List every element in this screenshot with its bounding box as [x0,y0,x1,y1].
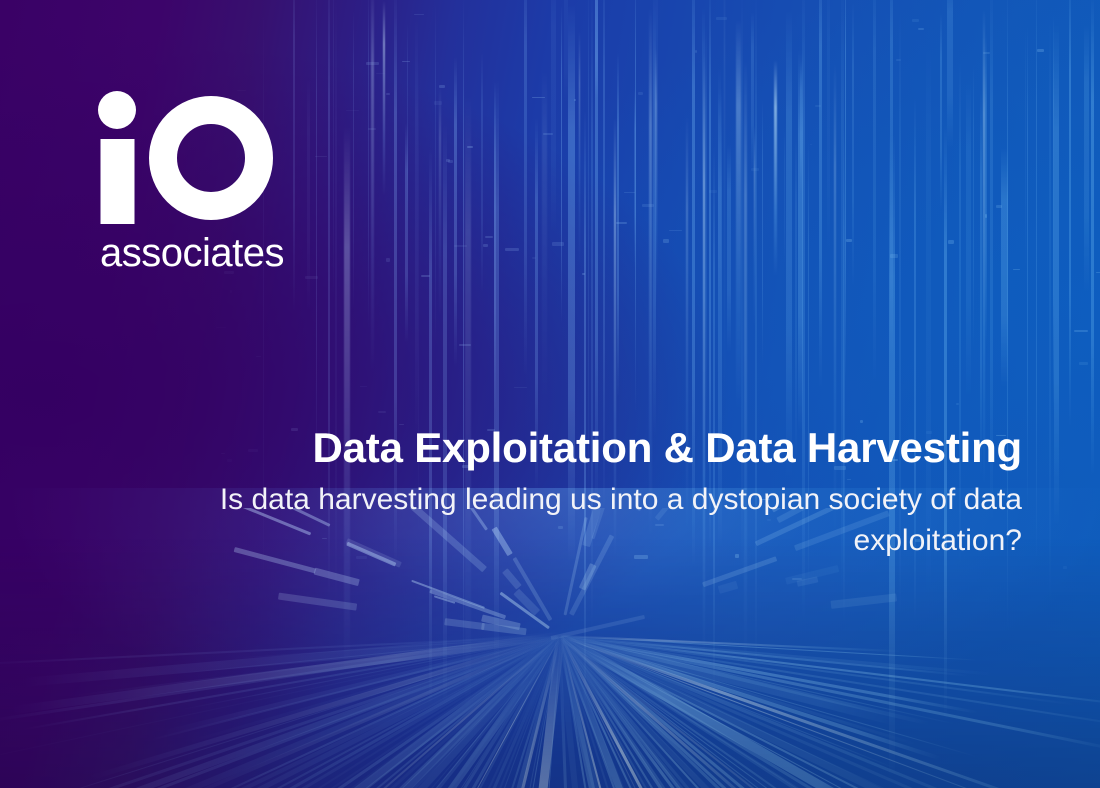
data-streak [551,0,556,233]
data-blip [890,254,898,257]
data-streak [368,0,369,328]
logo-letter-i-dot-icon [98,91,136,129]
data-streak [435,3,436,343]
data-blip [582,273,585,275]
page-title: Data Exploitation & Data Harvesting [120,424,1022,472]
floor-dash [718,581,738,594]
floor-dash [831,594,897,609]
data-blip [918,28,924,30]
data-blip [669,230,682,231]
data-streak [1036,0,1038,562]
logo-mark-icon: associates [96,86,296,276]
data-streak [1053,16,1054,413]
data-streak [727,145,732,352]
data-streak [940,14,942,210]
data-blip [846,239,852,242]
data-blip [414,14,424,16]
data-streak [617,53,619,397]
logo-tagline: associates [100,231,284,275]
data-streak [819,0,822,388]
data-blip [624,192,635,193]
data-streak [873,0,876,383]
data-streak [561,6,562,323]
data-streak [439,87,441,319]
data-blip [695,50,697,53]
page-subtitle: Is data harvesting leading us into a dys… [120,480,1022,562]
data-streak [947,0,953,147]
data-streak [985,34,988,347]
floor-dash [277,593,356,611]
data-streak [524,0,527,376]
data-streak [705,24,707,424]
floor-dash [502,568,521,589]
data-streak [656,0,658,254]
data-streak [1027,26,1029,514]
data-blip [810,144,812,145]
data-blip [1096,272,1100,273]
data-streak [973,64,974,348]
data-streak [736,20,741,410]
data-streak [724,0,725,398]
data-blip [1013,269,1021,270]
data-blip [467,146,473,149]
data-blip [948,240,954,244]
data-streak [371,0,374,371]
data-streak [1091,0,1094,475]
data-blip [1037,49,1044,52]
data-streak [22,0,24,451]
data-streak [1069,0,1070,427]
io-associates-logo: associates [96,86,296,276]
data-streak [481,52,482,294]
data-blip [360,386,368,387]
data-blip [552,242,565,246]
data-blip [386,93,390,95]
data-streak [786,11,791,476]
data-blip [716,17,727,21]
data-blip [543,133,553,136]
data-blip [860,420,864,423]
data-blip [638,92,644,95]
data-streak [1084,25,1089,292]
data-streak [754,126,755,326]
data-streak [353,11,354,308]
data-streak [79,10,82,578]
slide-canvas: associates Data Exploitation & Data Harv… [0,0,1100,788]
data-blip [368,128,376,130]
data-blip [315,156,327,158]
data-blip [574,99,577,101]
data-blip [386,258,391,262]
data-blip [1079,362,1088,365]
data-blip [616,222,628,224]
data-streak [579,32,580,264]
data-blip [216,327,226,328]
logo-letter-o-ring-icon [163,110,259,206]
data-blip [663,239,669,243]
data-blip [305,276,318,279]
data-streak [1054,25,1059,525]
data-blip [912,19,919,22]
data-streak [966,82,970,396]
data-streak [795,135,797,458]
data-blip [642,204,654,207]
data-blip [505,248,519,251]
floor-dash [313,568,359,586]
data-blip [446,159,450,162]
data-streak [827,0,830,255]
data-blip [896,59,901,61]
data-blip [1074,330,1088,332]
data-streak [454,57,457,366]
data-blip [709,190,717,194]
data-blip [366,62,380,65]
logo-letter-i-stem-icon [101,139,135,224]
data-streak [542,71,547,405]
data-blip [483,244,489,247]
data-blip [434,101,442,105]
data-streak [415,20,418,435]
data-blip [421,275,430,277]
data-streak [852,3,854,287]
data-blip [459,344,471,345]
data-blip [256,356,261,357]
data-streak [634,89,637,268]
data-streak [980,90,982,476]
data-blip [751,168,759,172]
data-blip [996,205,1002,209]
data-streak [845,0,846,383]
data-blip [439,85,444,88]
data-blip [985,214,987,217]
data-streak [774,60,777,276]
data-streak [595,0,598,98]
data-blip [983,52,990,54]
data-blip [514,387,528,388]
data-streak [588,0,590,494]
data-blip [485,236,493,239]
data-streak [800,61,802,194]
floor-dash [411,580,484,609]
data-streak [316,0,317,475]
data-blip [378,411,386,413]
data-streak [383,1,384,196]
data-streak [762,100,764,364]
data-blip [230,290,233,293]
data-streak [784,131,785,266]
title-block: Data Exploitation & Data Harvesting Is d… [120,424,1022,561]
data-streak [407,23,409,224]
floor-dash [444,618,485,630]
floor-dash [430,589,507,619]
